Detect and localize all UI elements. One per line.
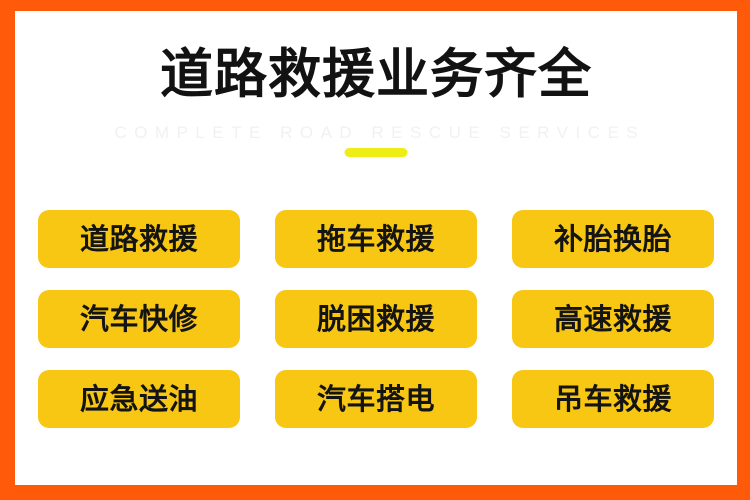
poster-root: 道路救援业务齐全 COMPLETE ROAD RESCUE SERVICES 道… <box>0 0 750 500</box>
service-chip-tow-rescue[interactable]: 拖车救援 <box>275 210 477 268</box>
service-chip-grid: 道路救援 拖车救援 补胎换胎 汽车快修 脱困救援 高速救援 应急送油 汽车搭电 <box>38 210 714 428</box>
service-chip-emergency-fuel-delivery[interactable]: 应急送油 <box>38 370 240 428</box>
service-chip-jump-start[interactable]: 汽车搭电 <box>275 370 477 428</box>
service-chip-label: 汽车搭电 <box>317 383 435 415</box>
service-chip-label: 脱困救援 <box>317 303 435 335</box>
page-subtitle: COMPLETE ROAD RESCUE SERVICES <box>15 123 737 143</box>
service-chip-highway-rescue[interactable]: 高速救援 <box>512 290 714 348</box>
service-chip-label: 道路救援 <box>80 223 198 255</box>
service-chip-road-rescue[interactable]: 道路救援 <box>38 210 240 268</box>
service-chip-crane-rescue[interactable]: 吊车救援 <box>512 370 714 428</box>
page-title: 道路救援业务齐全 <box>15 44 737 106</box>
service-chip-label: 高速救援 <box>554 303 672 335</box>
service-chip-quick-auto-repair[interactable]: 汽车快修 <box>38 290 240 348</box>
service-chip-extrication-rescue[interactable]: 脱困救援 <box>275 290 477 348</box>
service-chip-tire-repair-replace[interactable]: 补胎换胎 <box>512 210 714 268</box>
service-chip-label: 吊车救援 <box>554 383 672 415</box>
service-chip-label: 汽车快修 <box>80 303 198 335</box>
service-chip-label: 应急送油 <box>80 383 198 415</box>
accent-dash-divider <box>345 148 408 157</box>
poster-canvas: 道路救援业务齐全 COMPLETE ROAD RESCUE SERVICES 道… <box>15 11 737 485</box>
service-chip-label: 补胎换胎 <box>554 223 672 255</box>
service-chip-label: 拖车救援 <box>317 223 435 255</box>
